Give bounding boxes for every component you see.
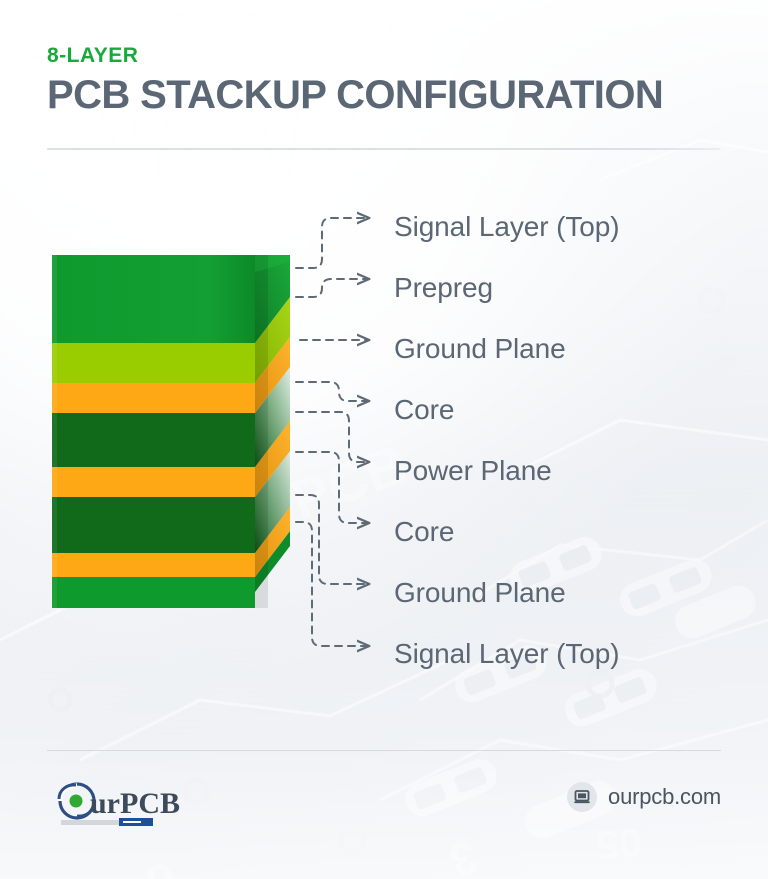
layer-5-power-plane [52,467,255,497]
website-url: ourpcb.com [608,786,721,808]
layer-4-core [52,413,255,467]
stack-side-face [255,255,290,608]
logo-bar-gray [61,820,119,825]
monitor-icon [567,782,597,812]
footer: urPCB ourpcb.com [47,776,721,832]
header: 8-LAYER PCB STACKUP CONFIGURATION [47,45,727,117]
page-title: PCB STACKUP CONFIGURATION [47,75,727,117]
label-row-2: Prepreg [394,257,744,318]
stack-front-face [52,255,255,608]
layer-label-2: Prepreg [394,274,493,302]
label-row-5: Power Plane [394,440,744,501]
layer-label-4: Core [394,396,454,424]
footer-divider [47,750,721,751]
logo-wordmark: urPCB [90,787,180,820]
infographic-page: PCB 3 6 05 8-LAYER PCB STACKUP CONFIGURA… [0,0,768,879]
ourpcb-logo[interactable]: urPCB [47,776,197,828]
layer-label-7: Ground Plane [394,579,566,607]
layer-label-6: Core [394,518,454,546]
website-link[interactable]: ourpcb.com [567,782,721,812]
layer-8-signal-bottom [52,577,255,608]
logo-swirl-icon [59,784,94,818]
layer-6-core [52,497,255,553]
label-row-6: Core [394,501,744,562]
label-row-4: Core [394,379,744,440]
layer-label-5: Power Plane [394,457,552,485]
layer-3-ground-plane [52,383,255,413]
layer-1-signal-top [52,255,255,343]
layer-2-prepreg [52,343,255,383]
layer-label-list: Signal Layer (Top) Prepreg Ground Plane … [394,196,744,684]
layer-label-3: Ground Plane [394,335,566,363]
eyebrow-label: 8-LAYER [47,45,727,66]
label-row-7: Ground Plane [394,562,744,623]
label-row-3: Ground Plane [394,318,744,379]
layer-7-ground-plane [52,553,255,577]
layer-label-8: Signal Layer (Top) [394,640,619,668]
header-divider [47,148,721,150]
pcb-stack-graphic [40,240,310,620]
label-row-8: Signal Layer (Top) [394,623,744,684]
label-row-1: Signal Layer (Top) [394,196,744,257]
layer-label-1: Signal Layer (Top) [394,213,619,241]
